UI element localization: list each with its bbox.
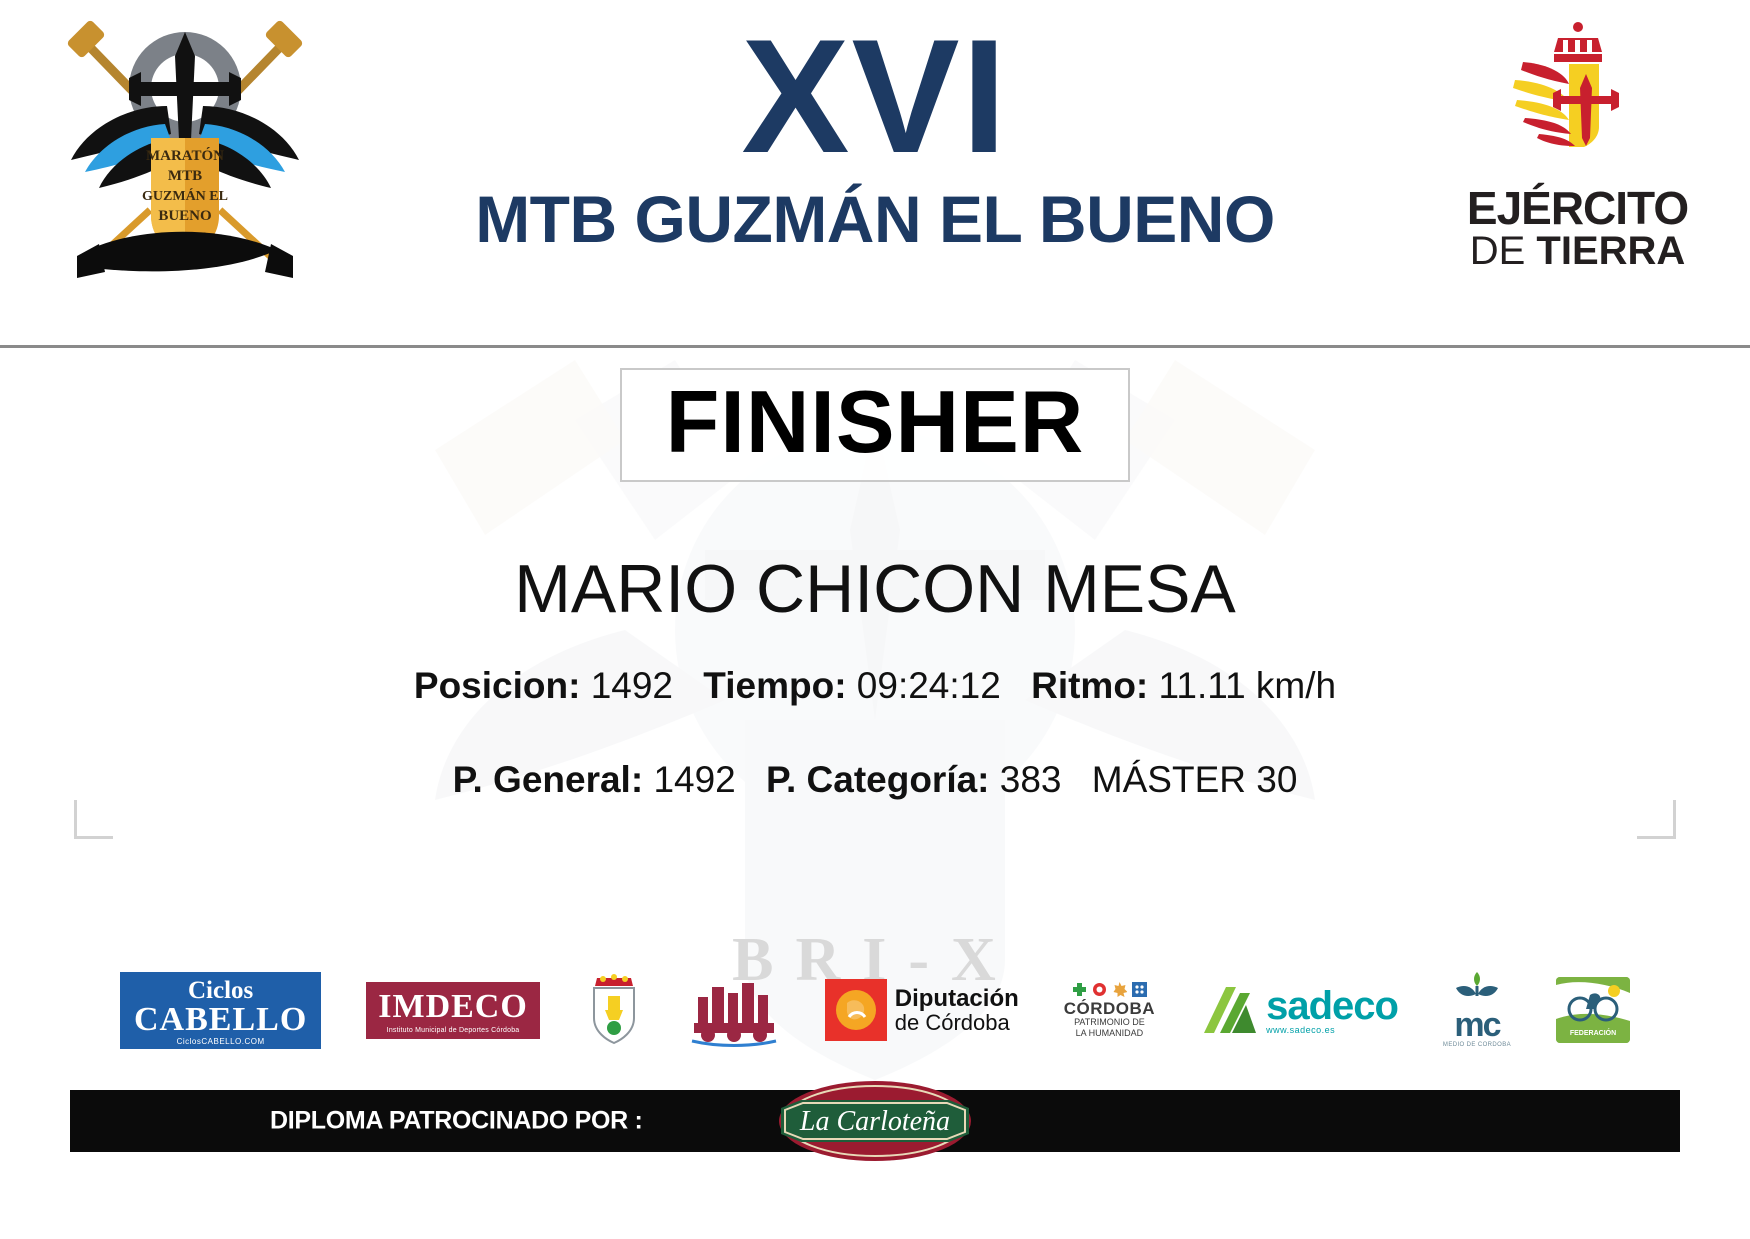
- patrimonio-line1: PATRIMONIO DE: [1064, 1017, 1155, 1027]
- patrimonio-icons: [1064, 982, 1155, 997]
- imdeco-subtitle: Instituto Municipal de Deportes Córdoba: [378, 1027, 528, 1034]
- sponsor-diputacion-cordoba: Diputación de Córdoba: [825, 979, 1019, 1041]
- ciclos-cabello-logo: Ciclos CABELLO CiclosCABELLO.COM: [120, 972, 321, 1049]
- sponsor-cordoba-patrimonio: CÓRDOBA PATRIMONIO DE LA HUMANIDAD: [1064, 982, 1155, 1038]
- cross-icon: [1072, 982, 1087, 997]
- diputacion-mark-icon: [825, 979, 887, 1041]
- ejercito-emblem-icon: [1503, 22, 1653, 182]
- cabello-line1: Ciclos: [134, 978, 307, 1003]
- ritmo-value: 11.11 km/h: [1159, 665, 1337, 706]
- de-tierra-label: DE TIERRA: [1455, 231, 1700, 271]
- header-divider: [0, 345, 1750, 348]
- mc-sprout-icon: [1452, 972, 1502, 1004]
- finisher-banner-wrap: FINISHER: [0, 368, 1750, 482]
- mc-logo: mc MEDIO DE CORDOBA: [1443, 972, 1511, 1048]
- svg-text:FEDERACIÓN: FEDERACIÓN: [1570, 1028, 1616, 1037]
- p-categoria-value: 383: [1000, 759, 1062, 800]
- posicion-value: 1492: [591, 665, 673, 706]
- sponsor-logos-row: Ciclos CABELLO CiclosCABELLO.COM IMDECO …: [120, 960, 1630, 1060]
- posicion-label: Posicion:: [414, 665, 581, 706]
- finisher-banner: FINISHER: [620, 368, 1131, 482]
- flower-icon: [1092, 982, 1107, 997]
- sponsor-federacion-andaluza-ciclismo: FEDERACIÓN FEDERACIÓN ANDALUZA DE CICLIS…: [1556, 977, 1630, 1043]
- fac-logo-icon: FEDERACIÓN: [1556, 977, 1630, 1043]
- sponsor-ciclos-cabello: Ciclos CABELLO CiclosCABELLO.COM: [120, 972, 321, 1049]
- sadeco-label: sadeco: [1266, 986, 1398, 1026]
- diputacion-wordmark: Diputación de Córdoba: [895, 986, 1019, 1034]
- patrimonio-line2: LA HUMANIDAD: [1064, 1028, 1155, 1038]
- sponsor-sadeco: sadeco www.sadeco.es: [1200, 983, 1398, 1037]
- tierra-label: TIERRA: [1536, 229, 1685, 273]
- cabello-line3: CiclosCABELLO.COM: [134, 1038, 307, 1046]
- ejercito-label: EJÉRCITO: [1455, 187, 1700, 231]
- diploma-page: BRI-X: [0, 0, 1750, 1239]
- tiempo-value: 09:24:12: [857, 665, 1001, 706]
- de-prefix: DE: [1470, 229, 1537, 273]
- categoria-name: MÁSTER 30: [1092, 759, 1298, 800]
- svg-text:La Carloteña: La Carloteña: [799, 1106, 950, 1137]
- p-categoria-label: P. Categoría:: [766, 759, 989, 800]
- results-line-2: P. General: 1492 P. Categoría: 383 MÁSTE…: [0, 759, 1750, 801]
- results-line-1: Posicion: 1492 Tiempo: 09:24:12 Ritmo: 1…: [0, 665, 1750, 707]
- athlete-name: MARIO CHICON MESA: [0, 550, 1750, 628]
- diputacion-line2: de Córdoba: [895, 1011, 1019, 1034]
- header: MARATÓN MTB GUZMÁN EL BUENO BRI-X XVI MT…: [0, 0, 1750, 345]
- ejercito-de-tierra-logo: EJÉRCITO DE TIERRA: [1455, 22, 1700, 271]
- crop-mark-right: [1637, 800, 1676, 839]
- cordoba-patrimonio-logo: CÓRDOBA PATRIMONIO DE LA HUMANIDAD: [1064, 982, 1155, 1038]
- crop-mark-left: [74, 800, 113, 839]
- sponsor-mc: mc MEDIO DE CORDOBA: [1443, 972, 1511, 1048]
- diputacion-line1: Diputación: [895, 986, 1019, 1011]
- imdeco-logo: IMDECO Instituto Municipal de Deportes C…: [366, 982, 540, 1039]
- sponsor-imdeco: IMDECO Instituto Municipal de Deportes C…: [366, 982, 540, 1039]
- obejo-coat-of-arms-icon: [585, 974, 643, 1046]
- star-icon: [1112, 982, 1127, 997]
- sponsored-by-text: DIPLOMA PATROCINADO POR :: [270, 1107, 643, 1136]
- tiempo-label: Tiempo:: [703, 665, 846, 706]
- sadeco-wordmark: sadeco www.sadeco.es: [1266, 986, 1398, 1035]
- imdeco-wordmark: IMDECO: [378, 990, 528, 1024]
- square-dots-icon: [1132, 982, 1147, 997]
- results-block: Posicion: 1492 Tiempo: 09:24:12 Ritmo: 1…: [0, 665, 1750, 853]
- cordoba-city-icon: [688, 973, 780, 1047]
- mc-wordmark: mc: [1443, 1008, 1511, 1042]
- cabello-line2: CABELLO: [134, 1003, 307, 1037]
- sponsor-ayuntamiento-obejo: AYUNTAMIENTO DE OBEJO: [585, 974, 643, 1046]
- cordoba-label: CÓRDOBA: [1064, 1000, 1155, 1017]
- mc-subtitle: MEDIO DE CORDOBA: [1443, 1042, 1511, 1048]
- sponsor-ayuntamiento-cordoba: AYUNTAMIENTO DE CÓRDOBA: [688, 973, 780, 1047]
- ritmo-label: Ritmo:: [1031, 665, 1148, 706]
- la-carlotena-logo: La Carloteña: [775, 1078, 975, 1164]
- sadeco-mark-icon: [1200, 983, 1258, 1037]
- p-general-label: P. General:: [453, 759, 644, 800]
- p-general-value: 1492: [653, 759, 735, 800]
